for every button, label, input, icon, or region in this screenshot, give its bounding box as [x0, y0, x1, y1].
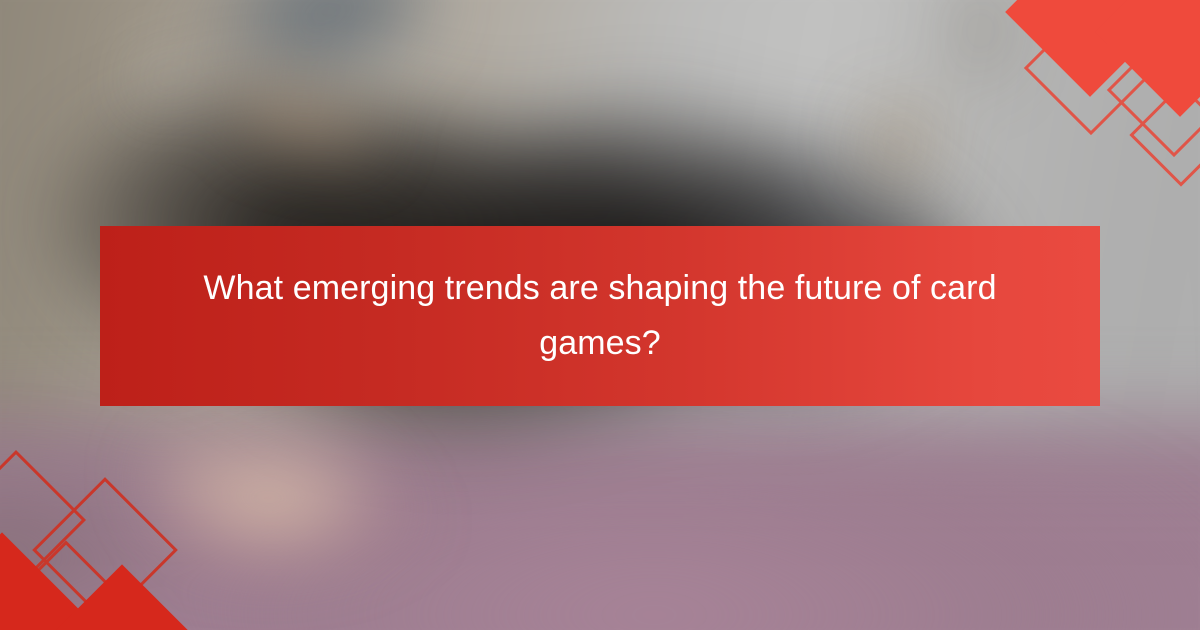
question-text: What emerging trends are shaping the fut… [200, 261, 1000, 371]
question-banner: What emerging trends are shaping the fut… [100, 226, 1100, 406]
share-card: What emerging trends are shaping the fut… [0, 0, 1200, 630]
